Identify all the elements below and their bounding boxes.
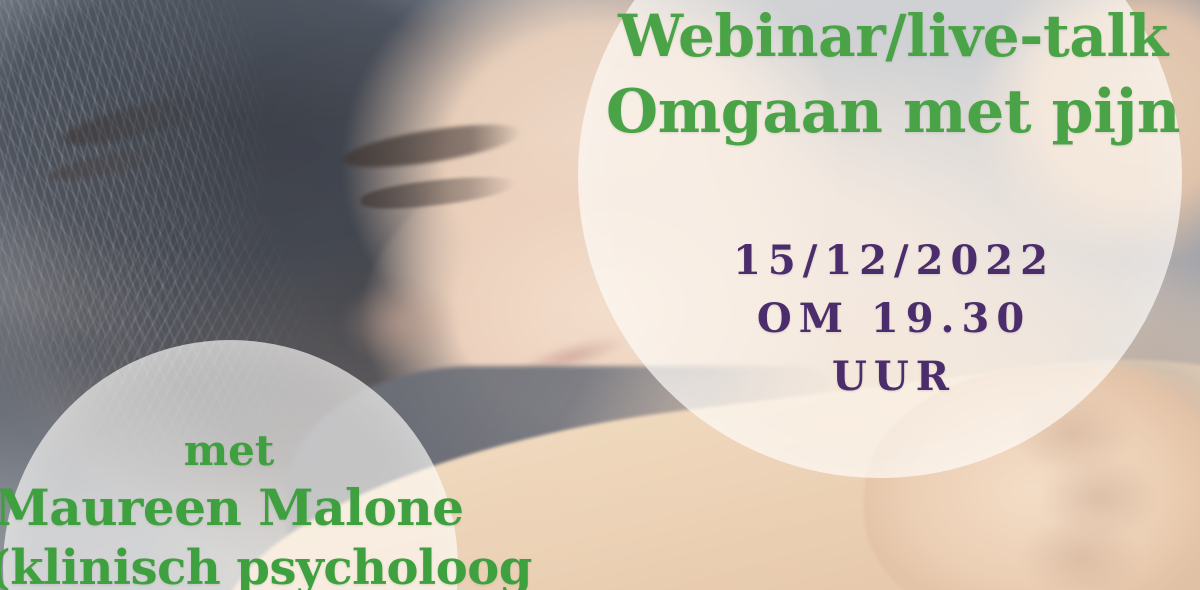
headline-line-1: Webinar/live-talk [600, 0, 1186, 74]
poster-datetime: 15/12/2022 OM 19.30 UUR [606, 232, 1182, 406]
speaker-name: Maureen Malone [0, 477, 470, 539]
speaker-role: (klinisch psycholoog [0, 539, 470, 590]
datetime-unit: UUR [606, 348, 1182, 406]
headline-line-2: Omgaan met pijn [600, 74, 1186, 150]
speaker-prefix: met [0, 425, 470, 477]
poster-speaker: met Maureen Malone (klinisch psycholoog [0, 425, 470, 590]
poster-headline: Webinar/live-talk Omgaan met pijn [600, 0, 1186, 150]
datetime-time: OM 19.30 [606, 290, 1182, 348]
datetime-date: 15/12/2022 [606, 232, 1182, 290]
webinar-poster: Webinar/live-talk Omgaan met pijn 15/12/… [0, 0, 1200, 590]
